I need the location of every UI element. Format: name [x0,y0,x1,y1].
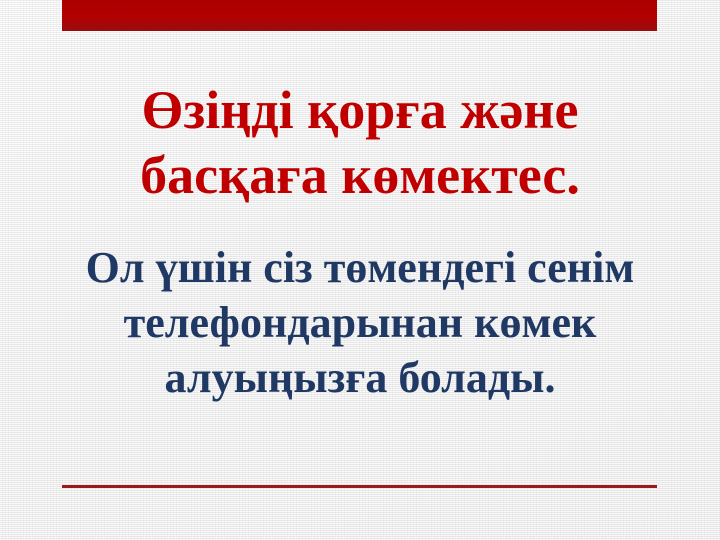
title-line-2: басқаға көмектес. [50,143,670,208]
slide-title: Өзіңді қорға және басқаға көмектес. [50,78,670,208]
body-line-3: алуыңызға болады. [18,350,702,405]
body-line-2: телефондарынан көмек [18,295,702,350]
title-line-1: Өзіңді қорға және [50,78,670,143]
top-accent-bar [62,0,657,31]
slide-body-text: Ол үшін сіз төмендегі сенім телефондарын… [18,240,702,405]
body-line-1: Ол үшін сіз төмендегі сенім [18,240,702,295]
presentation-slide: Өзіңді қорға және басқаға көмектес. Ол ү… [0,0,720,540]
bottom-divider-line [62,485,657,488]
